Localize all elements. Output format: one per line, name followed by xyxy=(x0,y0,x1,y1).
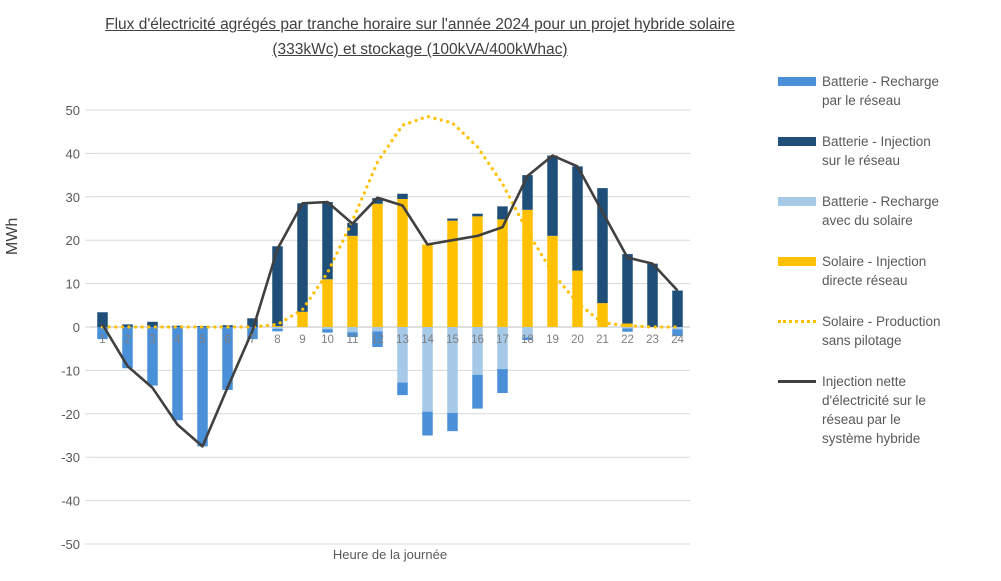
legend-dotted-line-icon xyxy=(778,320,816,323)
y-axis-tick-label: -40 xyxy=(61,494,80,509)
y-axis-tick-label: -50 xyxy=(61,537,80,552)
y-axis-tick-label: 50 xyxy=(66,103,80,118)
legend-label-line: Solaire - Production xyxy=(822,312,941,331)
legend-label-line: Injection nette xyxy=(822,372,926,391)
bar-segment-solaire_direct xyxy=(297,312,308,327)
x-axis-tick-label: 24 xyxy=(671,334,684,346)
legend-item[interactable]: Injection netted'électricité sur lerésea… xyxy=(778,372,993,448)
x-axis-tick-label: 11 xyxy=(347,334,359,346)
legend-label-line: directe réseau xyxy=(822,271,926,290)
legend-label-line: réseau par le xyxy=(822,410,926,429)
bar-segment-solaire_direct xyxy=(447,221,458,327)
x-axis-tick-label: 5 xyxy=(199,334,205,346)
chart-container: Flux d'électricité agrégés par tranche h… xyxy=(0,0,1001,581)
bar-segment-recharge_solaire xyxy=(372,327,383,331)
legend-label-line: sur le réseau xyxy=(822,151,931,170)
legend-key xyxy=(778,312,816,330)
chart-legend: Batterie - Rechargepar le réseauBatterie… xyxy=(778,72,993,470)
bar-segment-solaire_direct xyxy=(422,245,433,327)
bar-segment-solaire_direct xyxy=(322,279,333,327)
x-axis-tick-label: 22 xyxy=(621,334,634,346)
y-axis-tick-label: 30 xyxy=(66,190,80,205)
bar-segment-solaire_direct xyxy=(397,199,408,327)
y-axis-tick-label: -30 xyxy=(61,450,80,465)
x-axis-tick-label: 17 xyxy=(496,334,509,346)
x-axis-tick-label: 14 xyxy=(421,334,434,346)
x-axis-tick-label: 7 xyxy=(249,334,255,346)
bar-segment-injection_reseau xyxy=(297,203,308,312)
bar-segment-recharge_reseau xyxy=(397,383,408,396)
bar-segment-injection_reseau xyxy=(397,194,408,199)
bar-segment-injection_reseau xyxy=(447,219,458,221)
y-axis-tick-label: 40 xyxy=(66,146,80,161)
legend-item[interactable]: Batterie - Injectionsur le réseau xyxy=(778,132,993,170)
legend-label-line: Batterie - Injection xyxy=(822,132,931,151)
x-axis-tick-label: 10 xyxy=(321,334,334,346)
legend-item[interactable]: Batterie - Rechargepar le réseau xyxy=(778,72,993,110)
x-axis-tick-label: 4 xyxy=(174,334,181,346)
bar-segment-injection_reseau xyxy=(622,254,633,323)
bar-segment-solaire_direct xyxy=(497,219,508,327)
y-axis-tick-label: 0 xyxy=(73,320,80,335)
legend-label: Injection netted'électricité sur lerésea… xyxy=(822,372,926,448)
bar-segment-recharge_reseau xyxy=(422,412,433,436)
y-axis-tick-label: 20 xyxy=(66,233,80,248)
x-axis-tick-label: 6 xyxy=(224,334,230,346)
bar-segment-recharge_reseau xyxy=(497,369,508,393)
legend-label-line: d'électricité sur le xyxy=(822,391,926,410)
bar-segment-solaire_direct xyxy=(547,236,558,327)
x-axis-tick-label: 8 xyxy=(274,334,280,346)
bar-segment-injection_reseau xyxy=(572,166,583,270)
legend-key xyxy=(778,192,816,210)
x-axis-tick-label: 23 xyxy=(646,334,659,346)
legend-label: Solaire - Productionsans pilotage xyxy=(822,312,941,350)
line-solaire-sans-pilotage xyxy=(103,117,678,328)
x-axis-tick-label: 16 xyxy=(471,334,484,346)
bar-segment-solaire_direct xyxy=(347,236,358,327)
x-axis-tick-label: 20 xyxy=(571,334,584,346)
x-axis-tick-label: 2 xyxy=(124,334,130,346)
bar-segment-recharge_solaire xyxy=(272,327,283,329)
legend-label-line: avec du solaire xyxy=(822,211,939,230)
y-axis-tick-label: -20 xyxy=(61,407,80,422)
bar-segment-injection_reseau xyxy=(547,156,558,236)
legend-label-line: Batterie - Recharge xyxy=(822,72,939,91)
y-axis-tick-label: -10 xyxy=(61,363,80,378)
bar-segment-solaire_direct xyxy=(472,216,483,327)
legend-label-line: par le réseau xyxy=(822,91,939,110)
line-injection-nette xyxy=(103,156,678,447)
x-axis-tick-label: 15 xyxy=(446,334,459,346)
bar-segment-recharge_reseau xyxy=(447,413,458,431)
bar-segment-injection_reseau xyxy=(647,264,658,327)
bar-segment-recharge_reseau xyxy=(322,329,333,332)
legend-label: Solaire - Injectiondirecte réseau xyxy=(822,252,926,290)
bar-segment-recharge_reseau xyxy=(272,329,283,332)
bar-segment-solaire_direct xyxy=(372,204,383,327)
legend-key xyxy=(778,372,816,390)
legend-swatch-icon xyxy=(778,77,816,86)
legend-solid-line-icon xyxy=(778,380,816,383)
legend-label: Batterie - Rechargepar le réseau xyxy=(822,72,939,110)
legend-swatch-icon xyxy=(778,197,816,206)
bar-segment-injection_reseau xyxy=(522,175,533,210)
bar-segment-recharge_reseau xyxy=(472,375,483,409)
legend-label: Batterie - Rechargeavec du solaire xyxy=(822,192,939,230)
legend-label: Batterie - Injectionsur le réseau xyxy=(822,132,931,170)
bar-segment-recharge_solaire xyxy=(347,327,358,332)
legend-swatch-icon xyxy=(778,137,816,146)
bar-segment-recharge_solaire xyxy=(622,327,633,328)
x-axis-tick-label: 1 xyxy=(99,334,105,346)
legend-item[interactable]: Batterie - Rechargeavec du solaire xyxy=(778,192,993,230)
x-axis-tick-label: 13 xyxy=(396,334,409,346)
legend-item[interactable]: Solaire - Productionsans pilotage xyxy=(778,312,993,350)
bar-segment-recharge_reseau xyxy=(622,328,633,331)
bar-segment-injection_reseau xyxy=(672,291,683,327)
legend-key xyxy=(778,132,816,150)
x-axis-tick-label: 9 xyxy=(299,334,305,346)
bar-segment-injection_reseau xyxy=(322,202,333,279)
bar-segment-injection_reseau xyxy=(472,214,483,217)
legend-swatch-icon xyxy=(778,257,816,266)
x-axis-tick-label: 18 xyxy=(521,334,534,346)
legend-key xyxy=(778,252,816,270)
legend-item[interactable]: Solaire - Injectiondirecte réseau xyxy=(778,252,993,290)
bar-segment-recharge_solaire xyxy=(322,327,333,329)
bar-segment-solaire_direct xyxy=(572,271,583,327)
legend-key xyxy=(778,72,816,90)
legend-label-line: système hybride xyxy=(822,429,926,448)
x-axis-tick-label: 19 xyxy=(546,334,559,346)
legend-label-line: Batterie - Recharge xyxy=(822,192,939,211)
x-axis-tick-label: 21 xyxy=(596,334,609,346)
y-axis-tick-label: 10 xyxy=(66,277,80,292)
legend-label-line: sans pilotage xyxy=(822,331,941,350)
legend-label-line: Solaire - Injection xyxy=(822,252,926,271)
x-axis-tick-label: 12 xyxy=(371,334,384,346)
x-axis-tick-label: 3 xyxy=(149,334,155,346)
